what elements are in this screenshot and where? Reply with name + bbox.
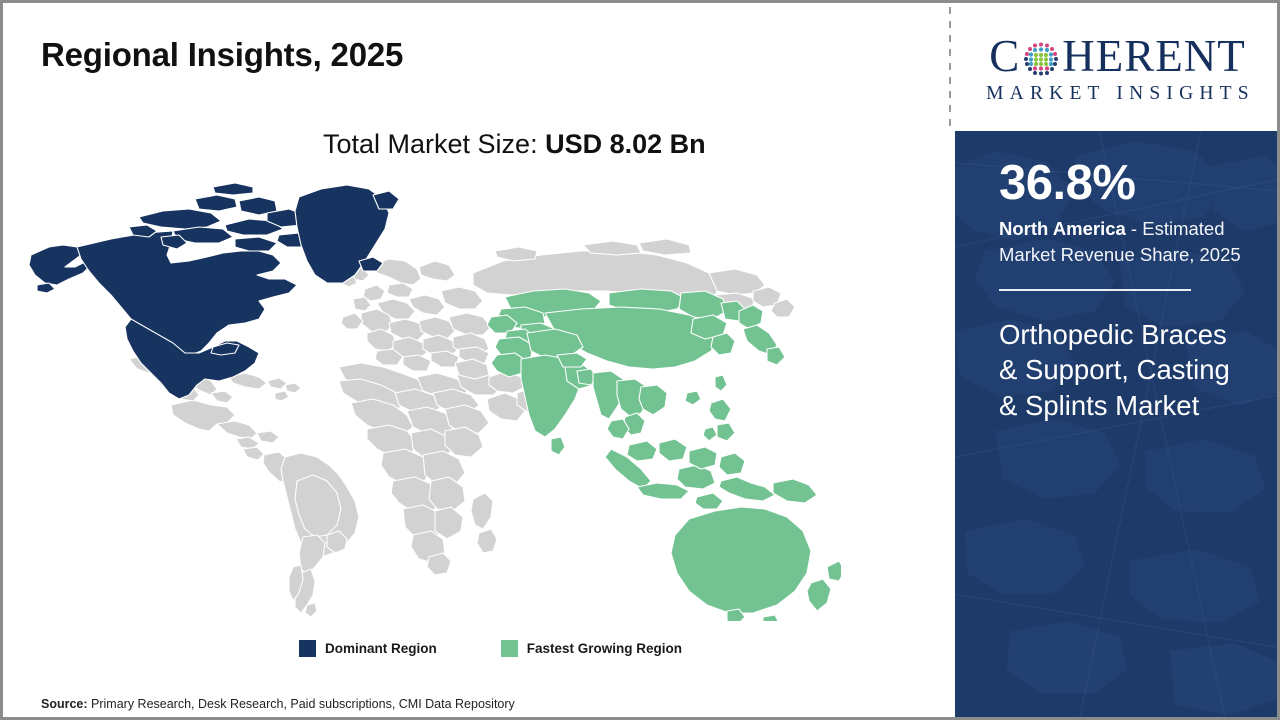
legend-item-dominant: Dominant Region: [299, 640, 437, 657]
legend-item-fastest-growing: Fastest Growing Region: [501, 640, 682, 657]
page-title: Regional Insights, 2025: [41, 36, 403, 74]
source-label: Source:: [41, 697, 88, 711]
world-map: [21, 181, 841, 621]
legend-swatch-fastest-growing: [501, 640, 518, 657]
left-content-panel: Regional Insights, 2025 Total Market Siz…: [3, 3, 949, 717]
stat-percentage: 36.8%: [999, 159, 1258, 208]
legend-label-fastest-growing: Fastest Growing Region: [527, 641, 682, 656]
map-legend: Dominant Region Fastest Growing Region: [299, 640, 682, 657]
market-title: Orthopedic Braces & Support, Casting & S…: [999, 317, 1239, 424]
total-market-size: Total Market Size: USD 8.02 Bn: [323, 129, 706, 160]
market-size-value: USD 8.02 Bn: [545, 129, 706, 159]
logo-wordmark-rest: HERENT: [1062, 34, 1245, 79]
legend-label-dominant: Dominant Region: [325, 641, 437, 656]
panel-divider-rule: [999, 289, 1191, 291]
market-size-label: Total Market Size:: [323, 129, 545, 159]
panel-content: 36.8% North America - Estimated Market R…: [999, 159, 1258, 424]
logo-tagline: MARKET INSIGHTS: [980, 83, 1255, 105]
logo-wordmark: C: [989, 34, 1246, 79]
stat-description: North America - Estimated Market Revenue…: [999, 216, 1258, 269]
source-note: Source: Primary Research, Desk Research,…: [41, 697, 515, 711]
vertical-dashed-divider: [949, 7, 951, 133]
logo-letter-c: C: [989, 34, 1020, 79]
region-latin-america: [171, 400, 359, 617]
regional-stat-panel: 36.8% North America - Estimated Market R…: [955, 131, 1280, 720]
region-europe: [341, 259, 491, 371]
infographic-frame: Regional Insights, 2025 Total Market Siz…: [0, 0, 1280, 720]
stat-region-name: North America: [999, 218, 1126, 239]
dotted-globe-icon: [1021, 39, 1061, 79]
world-map-svg: [21, 181, 841, 621]
brand-logo: C: [955, 7, 1280, 131]
legend-swatch-dominant: [299, 640, 316, 657]
source-text: Primary Research, Desk Research, Paid su…: [88, 697, 515, 711]
region-asia-pacific: [487, 289, 841, 621]
